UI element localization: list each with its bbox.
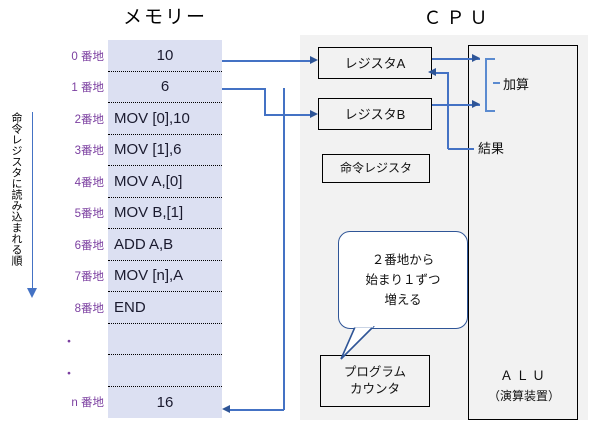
memory-title: メモリー bbox=[108, 2, 222, 29]
arrow-result-to-regA-icon bbox=[428, 68, 436, 76]
connector-result-seg3 bbox=[434, 72, 448, 74]
memory-cell bbox=[108, 355, 222, 387]
memory-address-label: 7番地 bbox=[46, 268, 104, 284]
connector-write-vertical bbox=[283, 88, 285, 410]
alu-name-label: ＡＬＵ bbox=[469, 366, 579, 386]
connector-result-seg1 bbox=[448, 148, 474, 150]
arrow-mem0-to-regA-icon bbox=[310, 56, 318, 64]
arrow-mem1-to-regB-icon bbox=[310, 110, 318, 118]
callout-line-3: 増える bbox=[384, 290, 421, 310]
memory-address-label: ・ bbox=[52, 331, 86, 350]
instruction-register-label: 命令レジスタ bbox=[340, 160, 412, 177]
memory-cell-value: 16 bbox=[108, 394, 222, 411]
memory-cell-value: MOV [1],6 bbox=[108, 141, 222, 158]
addition-bracket-tick-icon bbox=[493, 82, 500, 84]
memory-address-label: n 番地 bbox=[46, 394, 104, 410]
cpu-title: ＣＰＵ bbox=[398, 4, 518, 30]
connector-mem1-seg1 bbox=[222, 88, 266, 90]
memory-cell: MOV [0],10 bbox=[108, 103, 222, 135]
memory-table: 106MOV [0],10MOV [1],6MOV A,[0]MOV B,[1]… bbox=[108, 40, 222, 418]
callout-line-2: 始まり１ずつ bbox=[365, 270, 440, 290]
memory-cell: END bbox=[108, 292, 222, 324]
memory-cell-value: MOV A,[0] bbox=[108, 173, 222, 190]
memory-cell-value: MOV [n],A bbox=[108, 267, 222, 284]
memory-cell-value: 6 bbox=[108, 78, 222, 95]
register-a-box[interactable]: レジスタA bbox=[318, 47, 432, 79]
memory-cell-value: MOV [0],10 bbox=[108, 110, 222, 127]
instruction-register-box[interactable]: 命令レジスタ bbox=[322, 154, 430, 183]
arrow-regA-to-alu-icon bbox=[472, 54, 480, 62]
register-b-label: レジスタB bbox=[345, 106, 406, 123]
memory-cell-value: 10 bbox=[108, 47, 222, 64]
memory-cell bbox=[108, 324, 222, 356]
addition-bracket-icon bbox=[485, 58, 495, 112]
memory-address-label: 5番地 bbox=[46, 205, 104, 221]
result-label: 結果 bbox=[478, 138, 504, 157]
memory-address-label: 2番地 bbox=[46, 111, 104, 127]
arrow-regB-to-alu-icon bbox=[472, 100, 480, 108]
alu-label-group: ＡＬＵ （演算装置） bbox=[469, 366, 579, 406]
memory-cell: 6 bbox=[108, 72, 222, 104]
callout-line-1: ２番地から bbox=[372, 250, 435, 270]
connector-result-seg2 bbox=[447, 72, 449, 149]
memory-cell-value: END bbox=[108, 299, 222, 316]
program-counter-label-line2: カウンタ bbox=[350, 381, 400, 398]
register-b-box[interactable]: レジスタB bbox=[318, 98, 432, 130]
memory-cell: ADD A,B bbox=[108, 229, 222, 261]
program-counter-label-line1: プログラム bbox=[344, 364, 406, 381]
memory-address-label: 6番地 bbox=[46, 237, 104, 253]
instruction-order-caption: 命令レジスタに読み込まれる順 bbox=[6, 112, 22, 308]
order-line bbox=[32, 112, 33, 292]
arrow-write-to-memory-icon bbox=[222, 405, 230, 413]
callout-tail-icon bbox=[337, 325, 383, 365]
memory-address-label: 0 番地 bbox=[46, 48, 104, 64]
memory-cell: 10 bbox=[108, 40, 222, 72]
connector-mem1-seg3 bbox=[264, 114, 312, 116]
memory-cell-value: MOV B,[1] bbox=[108, 204, 222, 221]
memory-cell: MOV [n],A bbox=[108, 261, 222, 293]
order-arrow-icon bbox=[27, 288, 37, 298]
memory-cell: 16 bbox=[108, 387, 222, 419]
memory-cell: MOV A,[0] bbox=[108, 166, 222, 198]
memory-cell-value: ADD A,B bbox=[108, 236, 222, 253]
connector-mem1-seg2 bbox=[264, 88, 266, 115]
memory-address-label: ・ bbox=[52, 363, 86, 382]
memory-cell: MOV [1],6 bbox=[108, 135, 222, 167]
register-a-label: レジスタA bbox=[345, 55, 406, 72]
connector-mem0-to-regA bbox=[222, 60, 312, 62]
addition-label: 加算 bbox=[503, 74, 529, 93]
memory-cell: MOV B,[1] bbox=[108, 198, 222, 230]
memory-address-label: 8番地 bbox=[46, 300, 104, 316]
memory-address-label: 4番地 bbox=[46, 174, 104, 190]
memory-address-label: 3番地 bbox=[46, 142, 104, 158]
program-counter-callout: ２番地から 始まり１ずつ 増える bbox=[338, 231, 468, 329]
alu-sub-label: （演算装置） bbox=[469, 386, 579, 406]
memory-address-label: 1 番地 bbox=[46, 79, 104, 95]
connector-write-horizontal bbox=[230, 409, 284, 411]
